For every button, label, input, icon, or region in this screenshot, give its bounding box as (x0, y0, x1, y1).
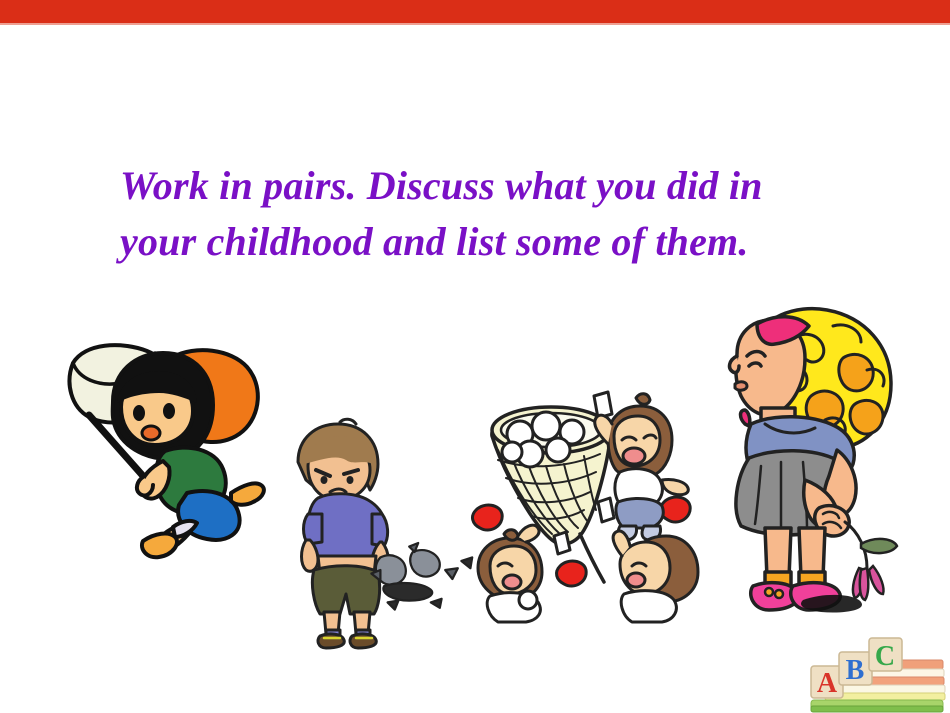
slide-canvas: Work in pairs. Discuss what you did in y… (0, 0, 950, 713)
block-letter-b: B (846, 655, 865, 686)
shorts (312, 566, 379, 614)
illustration-abc-blocks-on-books: A B C (795, 638, 950, 713)
block-letter-c: C (875, 641, 895, 672)
shoe-left (318, 634, 344, 648)
eye-left (133, 405, 145, 421)
top-red-banner (0, 0, 950, 23)
illustration-sad-boy-broken-vase (278, 418, 478, 648)
shoe-left (142, 534, 177, 558)
child-bottom-left (478, 525, 542, 622)
leaf (861, 539, 897, 553)
shoe-right (350, 634, 376, 648)
illustration-boy-with-butterfly-net (55, 335, 285, 550)
block-letter-a: A (817, 668, 838, 699)
illustration-girl-hiding-flower (695, 300, 910, 620)
shoe-right (231, 483, 264, 504)
eye-right (163, 403, 175, 419)
flower (845, 522, 897, 600)
illustration-kids-with-snowball-basket (468, 388, 703, 623)
top-red-banner-edge (0, 23, 950, 25)
page-title: Work in pairs. Discuss what you did in y… (120, 158, 840, 270)
child-bottom-right (613, 531, 698, 622)
